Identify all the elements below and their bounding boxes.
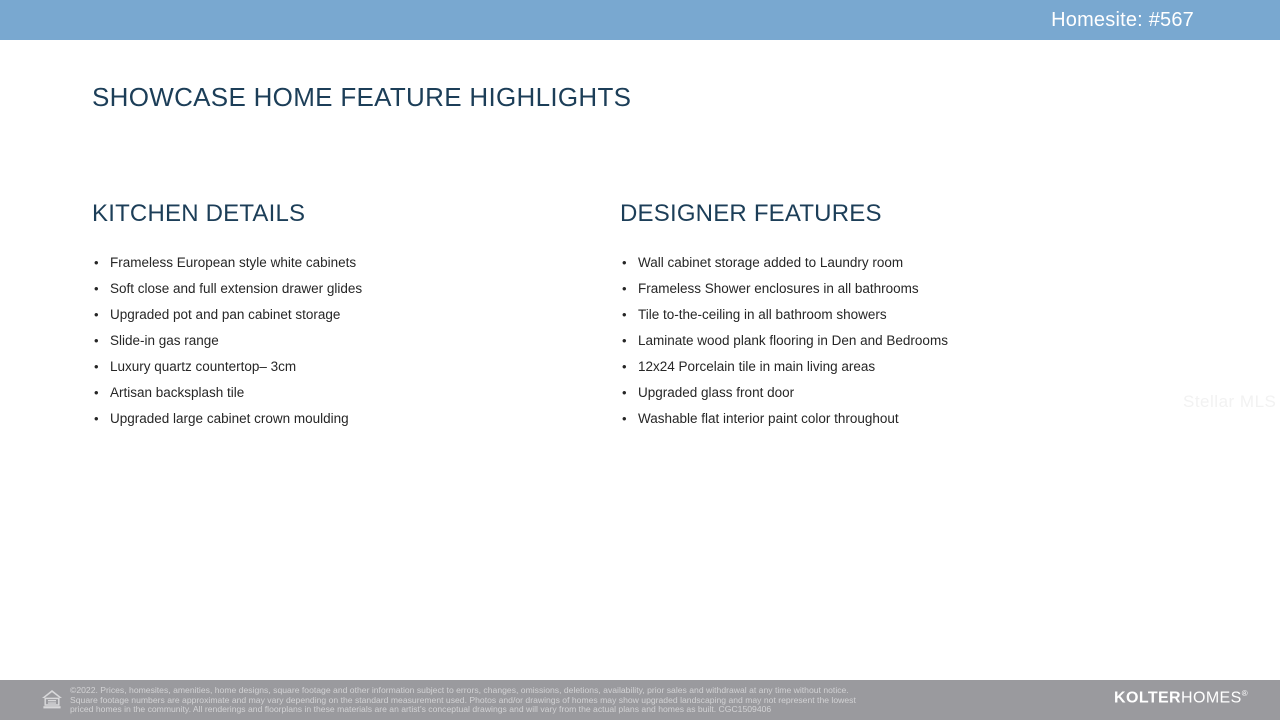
list-item-label: 12x24 Porcelain tile in main living area… [638,359,875,374]
list-item: • 12x24 Porcelain tile in main living ar… [620,354,1180,380]
list-item-label: Laminate wood plank flooring in Den and … [638,333,948,348]
list-item: • Laminate wood plank flooring in Den an… [620,328,1180,354]
list-item-label: Artisan backsplash tile [110,385,244,400]
bullet-icon: • [622,354,627,380]
bullet-icon: • [94,380,99,406]
list-item: • Frameless European style white cabinet… [92,250,592,276]
list-item-label: Slide-in gas range [110,333,219,348]
list-item-label: Frameless Shower enclosures in all bathr… [638,281,919,296]
list-item-label: Luxury quartz countertop– 3cm [110,359,296,374]
stellar-mls-watermark: Stellar MLS [1183,392,1276,412]
bullet-icon: • [94,406,99,432]
list-item-label: Tile to-the-ceiling in all bathroom show… [638,307,887,322]
logo-bold-text: KOLTER [1114,689,1181,706]
list-item-label: Frameless European style white cabinets [110,255,356,270]
top-banner: Homesite: #567 [0,0,1280,40]
homesite-label: Homesite: #567 [1051,9,1280,32]
bullet-icon: • [622,302,627,328]
list-item: • Slide-in gas range [92,328,592,354]
column-designer-features: DESIGNER FEATURES • Wall cabinet storage… [620,200,1180,432]
column-heading-designer-features: DESIGNER FEATURES [620,200,1180,228]
column-kitchen-details: KITCHEN DETAILS • Frameless European sty… [92,200,592,432]
list-item-label: Upgraded large cabinet crown moulding [110,411,349,426]
list-item: • Artisan backsplash tile [92,380,592,406]
logo-light-text: HOMES [1181,689,1242,706]
registered-trademark-icon: ® [1242,689,1248,698]
list-item: • Washable flat interior paint color thr… [620,406,1180,432]
kolter-homes-logo: KOLTERHOMES® [1114,689,1248,707]
page-title: SHOWCASE HOME FEATURE HIGHLIGHTS [92,82,631,113]
list-item: • Wall cabinet storage added to Laundry … [620,250,1180,276]
list-item: • Upgraded large cabinet crown moulding [92,406,592,432]
list-item-label: Soft close and full extension drawer gli… [110,281,362,296]
disclaimer-line: priced homes in the community. All rende… [70,705,1090,715]
list-item: • Frameless Shower enclosures in all bat… [620,276,1180,302]
equal-housing-opportunity-icon [40,687,64,711]
bullet-icon: • [94,276,99,302]
bullet-icon: • [94,328,99,354]
list-item: • Upgraded pot and pan cabinet storage [92,302,592,328]
bullet-icon: • [622,380,627,406]
feature-list-kitchen-details: • Frameless European style white cabinet… [92,250,592,432]
list-item: • Luxury quartz countertop– 3cm [92,354,592,380]
list-item: • Upgraded glass front door [620,380,1180,406]
bullet-icon: • [622,276,627,302]
footer-disclaimer: ©2022. Prices, homesites, amenities, hom… [70,686,1090,715]
list-item: • Tile to-the-ceiling in all bathroom sh… [620,302,1180,328]
list-item-label: Upgraded glass front door [638,385,794,400]
bullet-icon: • [622,328,627,354]
bullet-icon: • [622,250,627,276]
bullet-icon: • [94,302,99,328]
bullet-icon: • [622,406,627,432]
slide-body: SHOWCASE HOME FEATURE HIGHLIGHTS KITCHEN… [0,40,1280,680]
list-item-label: Wall cabinet storage added to Laundry ro… [638,255,903,270]
feature-list-designer-features: • Wall cabinet storage added to Laundry … [620,250,1180,432]
bullet-icon: • [94,250,99,276]
list-item: • Soft close and full extension drawer g… [92,276,592,302]
bullet-icon: • [94,354,99,380]
list-item-label: Upgraded pot and pan cabinet storage [110,307,340,322]
list-item-label: Washable flat interior paint color throu… [638,411,899,426]
column-heading-kitchen-details: KITCHEN DETAILS [92,200,592,228]
